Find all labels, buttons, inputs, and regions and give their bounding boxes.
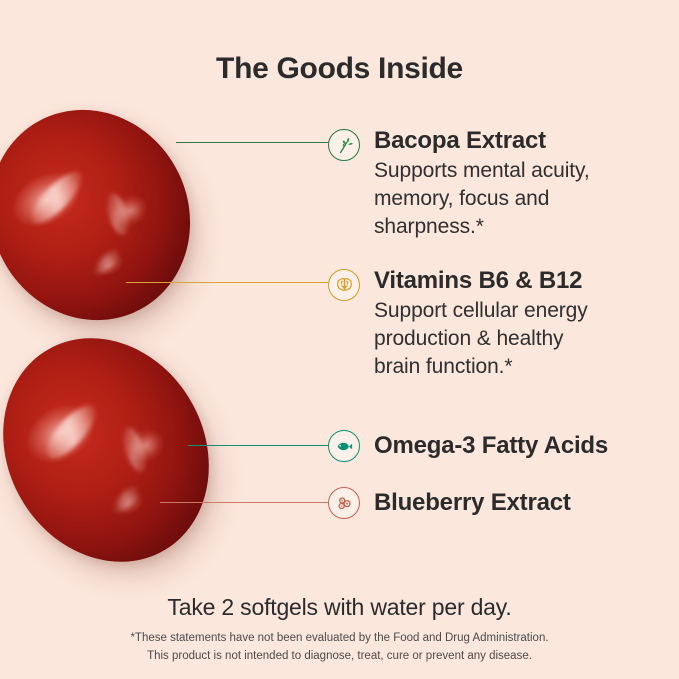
ingredient-omega-3-fatty-acids: Omega-3 Fatty Acids: [328, 430, 608, 462]
softgel-capsule-top: [0, 75, 227, 356]
capsule-highlight: [39, 398, 103, 465]
ingredient-text-block: Blueberry Extract: [374, 489, 571, 517]
leader-line-bacopa: [176, 142, 330, 143]
leader-line-omega: [188, 445, 330, 446]
ingredient-description: Supports mental acuity, memory, focus an…: [374, 157, 632, 240]
leader-line-vitamins: [126, 282, 330, 283]
ingredient-name: Bacopa Extract: [374, 127, 632, 155]
ingredient-bacopa-extract: Bacopa Extract Supports mental acuity, m…: [328, 127, 632, 240]
ingredient-blueberry-extract: Blueberry Extract: [328, 487, 571, 519]
fda-disclaimer: *These statements have not been evaluate…: [0, 630, 679, 666]
fda-disclaimer-line-1: *These statements have not been evaluate…: [0, 630, 679, 648]
brain-icon: [328, 269, 360, 301]
ingredient-name: Vitamins B6 & B12: [374, 267, 606, 295]
ingredient-vitamins-b6-b12: Vitamins B6 & B12 Support cellular energ…: [328, 267, 606, 380]
dosage-instruction: Take 2 softgels with water per day.: [0, 594, 679, 621]
fda-disclaimer-line-2: This product is not intended to diagnose…: [0, 648, 679, 666]
capsule-highlight: [110, 483, 143, 517]
capsule-highlight: [91, 245, 124, 277]
fish-icon: [328, 430, 360, 462]
page-title: The Goods Inside: [0, 52, 679, 86]
softgel-capsule-bottom: [0, 301, 249, 600]
leader-line-blueberry: [160, 502, 330, 503]
capsule-highlight: [103, 192, 132, 238]
berries-icon: [328, 487, 360, 519]
ingredient-description: Support cellular energy production & hea…: [374, 297, 606, 380]
infographic-panel: The Goods Inside Bacopa Extract Supports…: [0, 0, 679, 679]
capsule-highlight: [119, 425, 150, 475]
ingredient-name: Omega-3 Fatty Acids: [374, 432, 608, 460]
herb-sprig-icon: [328, 129, 360, 161]
ingredient-text-block: Bacopa Extract Supports mental acuity, m…: [374, 127, 632, 240]
capsule-highlight: [25, 166, 88, 230]
ingredient-name: Blueberry Extract: [374, 489, 571, 517]
ingredient-text-block: Vitamins B6 & B12 Support cellular energ…: [374, 267, 606, 380]
ingredient-text-block: Omega-3 Fatty Acids: [374, 432, 608, 460]
